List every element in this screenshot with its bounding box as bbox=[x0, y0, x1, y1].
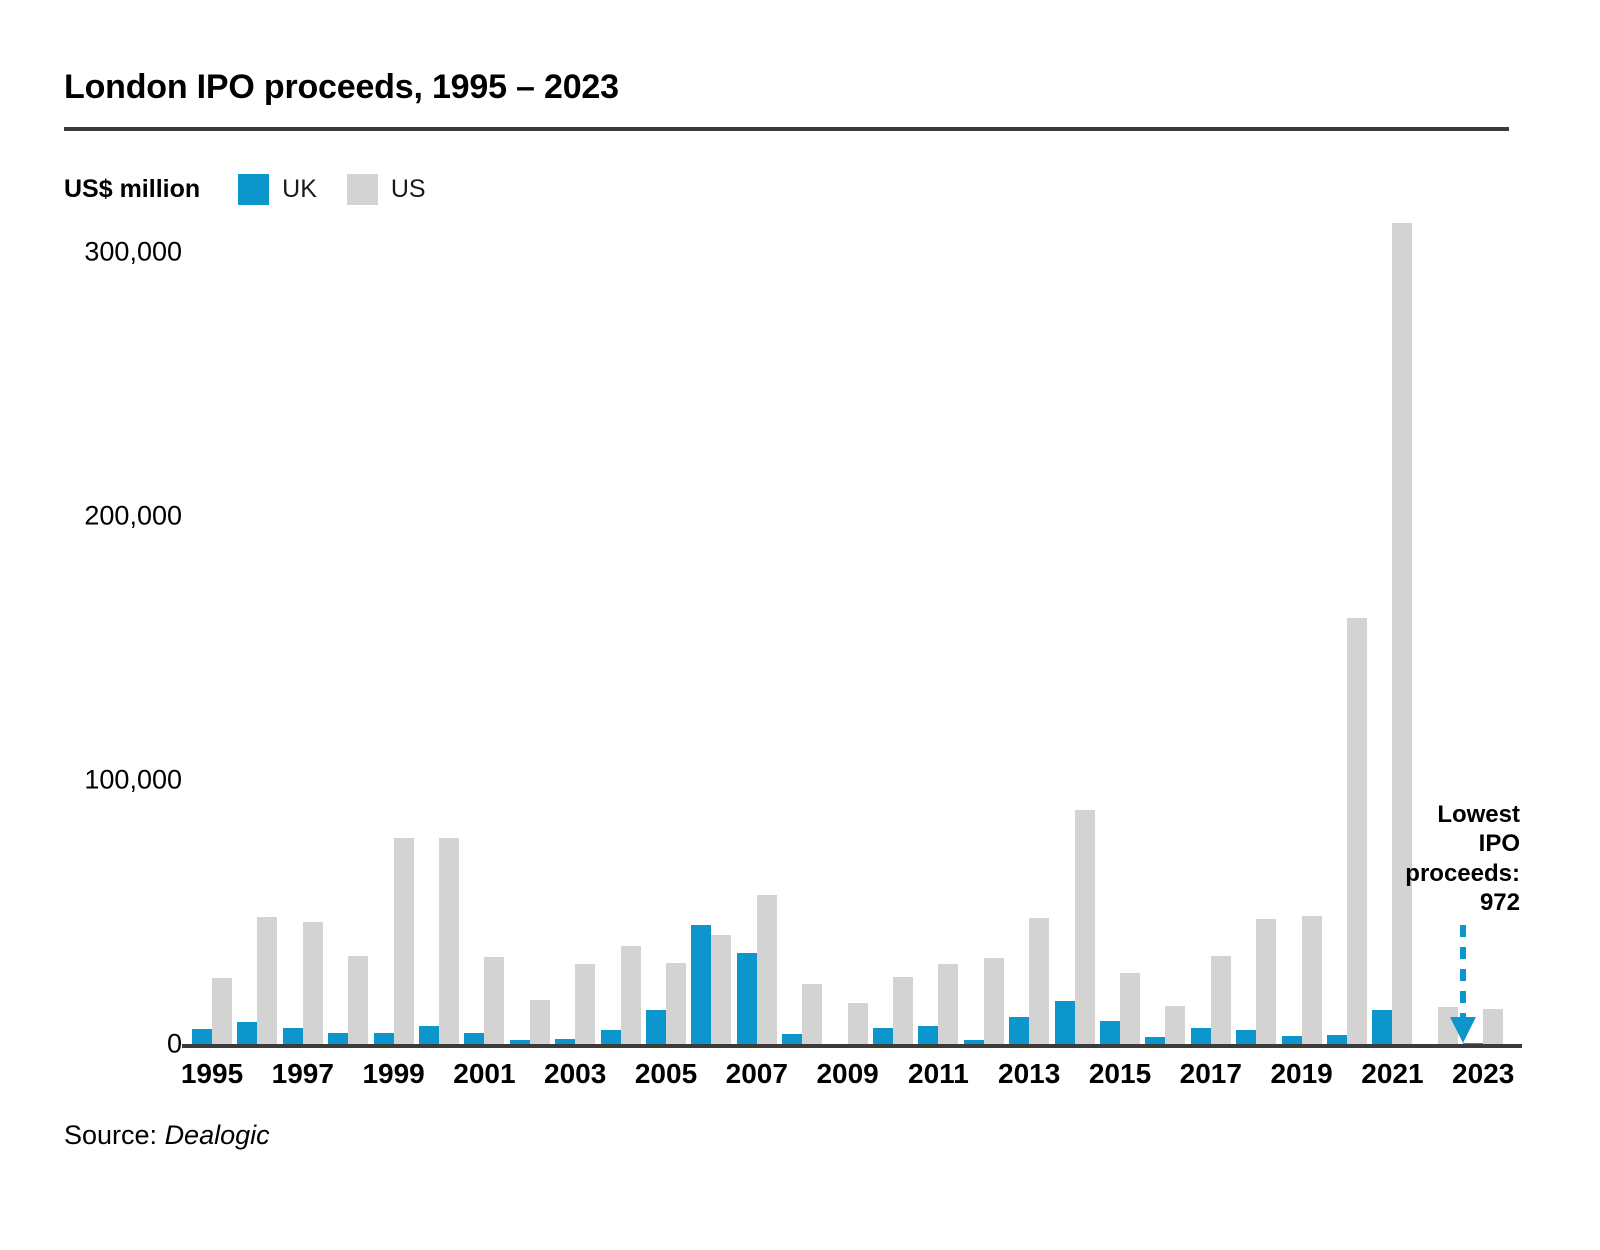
bar-us-2003[interactable] bbox=[575, 964, 595, 1046]
y-axis-tick-200000: 200,000 bbox=[0, 501, 182, 532]
source-name: Dealogic bbox=[165, 1120, 270, 1150]
bar-us-2005[interactable] bbox=[666, 963, 686, 1046]
bar-group-2017 bbox=[1191, 210, 1231, 1046]
bar-us-2020[interactable] bbox=[1347, 618, 1367, 1046]
bar-us-1997[interactable] bbox=[303, 922, 323, 1046]
bar-us-2011[interactable] bbox=[938, 964, 958, 1046]
bar-us-2018[interactable] bbox=[1256, 919, 1276, 1046]
annotation-line-2: IPO bbox=[1396, 829, 1520, 858]
bar-uk-2007[interactable] bbox=[737, 953, 757, 1046]
x-axis-tick-1995: 1995 bbox=[181, 1058, 243, 1090]
bar-us-2008[interactable] bbox=[802, 984, 822, 1046]
bar-group-2019 bbox=[1282, 210, 1322, 1046]
bar-group-2023 bbox=[1463, 210, 1503, 1046]
bar-us-2014[interactable] bbox=[1075, 810, 1095, 1046]
bar-group-2016 bbox=[1145, 210, 1185, 1046]
bar-uk-2000[interactable] bbox=[419, 1026, 439, 1046]
legend-swatch-uk bbox=[238, 174, 269, 205]
x-axis-tick-2001: 2001 bbox=[453, 1058, 515, 1090]
x-axis-baseline bbox=[182, 1044, 1522, 1048]
bar-group-2000 bbox=[419, 210, 459, 1046]
bar-us-2001[interactable] bbox=[484, 957, 504, 1046]
x-axis-tick-2015: 2015 bbox=[1089, 1058, 1151, 1090]
bar-us-2010[interactable] bbox=[893, 977, 913, 1046]
x-axis-tick-2005: 2005 bbox=[635, 1058, 697, 1090]
bar-group-2011 bbox=[918, 210, 958, 1046]
source-prefix: Source: bbox=[64, 1120, 165, 1150]
bar-us-1995[interactable] bbox=[212, 978, 232, 1046]
legend-label-us: US bbox=[391, 175, 426, 204]
title-divider bbox=[64, 127, 1509, 131]
annotation-line-1: Lowest bbox=[1396, 800, 1520, 829]
bar-group-2012 bbox=[964, 210, 1004, 1046]
bar-group-2018 bbox=[1236, 210, 1276, 1046]
legend-swatch-us bbox=[347, 174, 378, 205]
bar-us-2012[interactable] bbox=[984, 958, 1004, 1046]
bar-group-2005 bbox=[646, 210, 686, 1046]
legend-units-label: US$ million bbox=[64, 175, 200, 204]
x-axis-tick-2017: 2017 bbox=[1180, 1058, 1242, 1090]
bar-us-2013[interactable] bbox=[1029, 918, 1049, 1046]
bar-group-2015 bbox=[1100, 210, 1140, 1046]
chart-legend: US$ million UK US bbox=[64, 172, 456, 206]
bar-group-1996 bbox=[237, 210, 277, 1046]
bar-uk-2013[interactable] bbox=[1009, 1017, 1029, 1046]
y-axis-tick-0: 0 bbox=[0, 1029, 182, 1060]
x-axis-tick-2009: 2009 bbox=[816, 1058, 878, 1090]
bar-group-1999 bbox=[374, 210, 414, 1046]
bar-us-1996[interactable] bbox=[257, 917, 277, 1046]
x-axis-tick-2011: 2011 bbox=[908, 1058, 969, 1090]
annotation-arrow-icon bbox=[1448, 925, 1478, 1045]
bar-group-1995 bbox=[192, 210, 232, 1046]
x-axis-tick-1997: 1997 bbox=[272, 1058, 334, 1090]
bar-group-1998 bbox=[328, 210, 368, 1046]
legend-item-uk: UK bbox=[238, 174, 317, 205]
source-note: Source: Dealogic bbox=[64, 1120, 270, 1151]
bar-uk-2021[interactable] bbox=[1372, 1010, 1392, 1046]
bar-us-2004[interactable] bbox=[621, 946, 641, 1046]
bar-us-2017[interactable] bbox=[1211, 956, 1231, 1046]
y-axis-tick-300000: 300,000 bbox=[0, 237, 182, 268]
plot-area bbox=[182, 210, 1522, 1046]
bar-uk-1996[interactable] bbox=[237, 1022, 257, 1046]
bar-us-2006[interactable] bbox=[711, 935, 731, 1046]
bar-uk-2014[interactable] bbox=[1055, 1001, 1075, 1046]
lowest-ipo-annotation: Lowest IPO proceeds: 972 bbox=[1396, 800, 1520, 917]
x-axis-tick-2007: 2007 bbox=[726, 1058, 788, 1090]
bar-uk-2005[interactable] bbox=[646, 1010, 666, 1046]
bar-us-2016[interactable] bbox=[1165, 1006, 1185, 1046]
bar-group-2007 bbox=[737, 210, 777, 1046]
bar-group-1997 bbox=[283, 210, 323, 1046]
bar-us-2015[interactable] bbox=[1120, 973, 1140, 1046]
x-axis-tick-2003: 2003 bbox=[544, 1058, 606, 1090]
bar-group-2006 bbox=[691, 210, 731, 1046]
x-axis-tick-2023: 2023 bbox=[1452, 1058, 1514, 1090]
bar-us-1999[interactable] bbox=[394, 838, 414, 1046]
x-axis-tick-2021: 2021 bbox=[1361, 1058, 1423, 1090]
bar-us-1998[interactable] bbox=[348, 956, 368, 1046]
x-axis-tick-2013: 2013 bbox=[998, 1058, 1060, 1090]
bar-group-2008 bbox=[782, 210, 822, 1046]
bar-uk-2006[interactable] bbox=[691, 925, 711, 1046]
annotation-line-3: proceeds: bbox=[1396, 859, 1520, 888]
bar-group-2020 bbox=[1327, 210, 1367, 1046]
bar-group-2021 bbox=[1372, 210, 1412, 1046]
bar-group-2003 bbox=[555, 210, 595, 1046]
bar-group-2022 bbox=[1418, 210, 1458, 1046]
x-axis-tick-1999: 1999 bbox=[362, 1058, 424, 1090]
bar-group-2014 bbox=[1055, 210, 1095, 1046]
bar-us-2002[interactable] bbox=[530, 1000, 550, 1046]
bar-group-2002 bbox=[510, 210, 550, 1046]
legend-label-uk: UK bbox=[282, 175, 317, 204]
bar-uk-2011[interactable] bbox=[918, 1026, 938, 1046]
y-axis-tick-100000: 100,000 bbox=[0, 765, 182, 796]
bar-us-2007[interactable] bbox=[757, 895, 777, 1046]
bar-us-2009[interactable] bbox=[848, 1003, 868, 1046]
bar-group-2013 bbox=[1009, 210, 1049, 1046]
bar-us-2021[interactable] bbox=[1392, 223, 1412, 1046]
x-axis-tick-2019: 2019 bbox=[1270, 1058, 1332, 1090]
bar-us-2000[interactable] bbox=[439, 838, 459, 1046]
bar-us-2023[interactable] bbox=[1483, 1009, 1503, 1046]
legend-item-us: US bbox=[347, 174, 426, 205]
bar-group-2010 bbox=[873, 210, 913, 1046]
annotation-line-4: 972 bbox=[1396, 888, 1520, 917]
bar-uk-2015[interactable] bbox=[1100, 1021, 1120, 1046]
bar-group-2009 bbox=[828, 210, 868, 1046]
bar-group-2004 bbox=[601, 210, 641, 1046]
chart-page: London IPO proceeds, 1995 – 2023 US$ mil… bbox=[0, 0, 1600, 1250]
page-title: London IPO proceeds, 1995 – 2023 bbox=[64, 68, 619, 107]
bar-group-2001 bbox=[464, 210, 504, 1046]
bar-us-2019[interactable] bbox=[1302, 916, 1322, 1046]
